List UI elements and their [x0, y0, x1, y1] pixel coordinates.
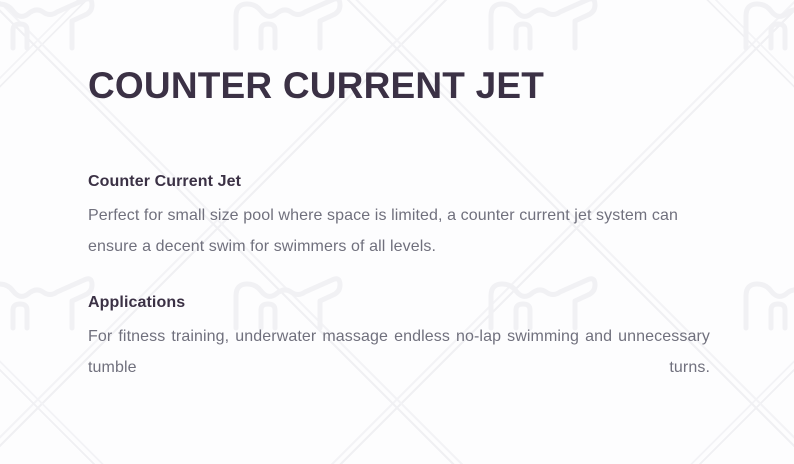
page-title: COUNTER CURRENT JET: [88, 66, 544, 107]
mt-monogram-watermark-icon: [738, 266, 794, 334]
mt-monogram-watermark-icon: [0, 0, 98, 54]
section-counter-current-jet: Counter Current Jet Perfect for small si…: [88, 172, 710, 262]
document-page: COUNTER CURRENT JET Counter Current Jet …: [0, 0, 794, 464]
mt-monogram-watermark-icon: [0, 266, 98, 334]
mt-monogram-watermark-icon: [228, 0, 346, 54]
section-applications: Applications For fitness training, under…: [88, 293, 710, 414]
mt-monogram-watermark-icon: [483, 0, 601, 54]
section-body-text: Perfect for small size pool where space …: [88, 200, 710, 262]
section-body-text: For fitness training, underwater massage…: [88, 321, 710, 414]
section-heading: Applications: [88, 293, 710, 312]
section-heading: Counter Current Jet: [88, 172, 710, 191]
mt-monogram-watermark-icon: [738, 0, 794, 54]
